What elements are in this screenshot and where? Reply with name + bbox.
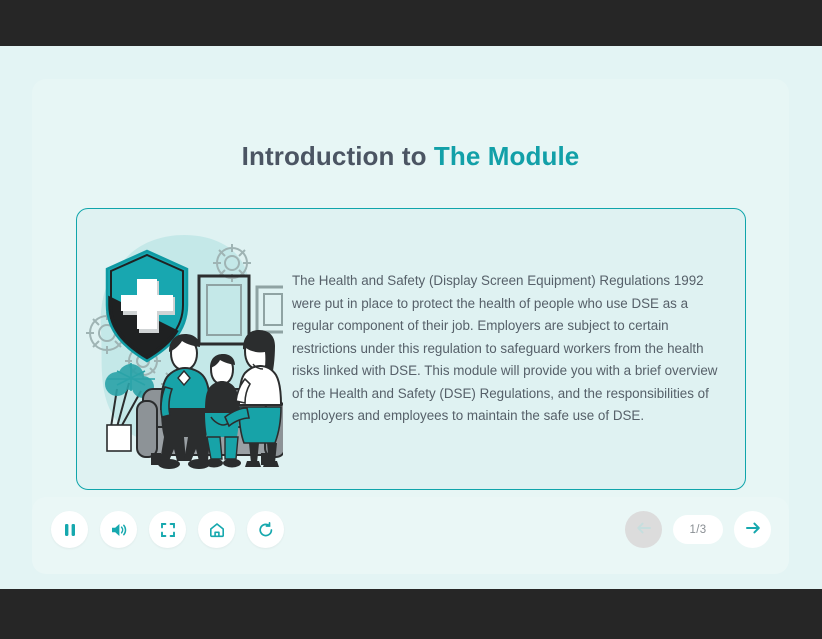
fullscreen-icon bbox=[159, 521, 177, 539]
page-title: Introduction to The Module bbox=[32, 141, 789, 172]
bottom-chrome-bar bbox=[0, 589, 822, 639]
lesson-card: Introduction to The Module bbox=[32, 79, 789, 519]
top-chrome-bar bbox=[0, 0, 822, 46]
previous-page-button[interactable] bbox=[625, 511, 662, 548]
page-title-plain: Introduction to bbox=[242, 141, 434, 171]
page-title-accent: The Module bbox=[434, 141, 579, 171]
family-on-couch-with-safety-shield-illustration bbox=[77, 209, 292, 489]
screen: Introduction to The Module bbox=[0, 0, 822, 639]
arrow-left-icon bbox=[635, 520, 653, 539]
lesson-page: Introduction to The Module bbox=[0, 46, 822, 589]
pause-button[interactable] bbox=[51, 511, 88, 548]
arrow-right-icon bbox=[744, 520, 762, 539]
player-toolbar: 1/3 bbox=[32, 497, 789, 574]
lesson-body-text: The Health and Safety (Display Screen Eq… bbox=[292, 270, 745, 428]
fullscreen-button[interactable] bbox=[149, 511, 186, 548]
restart-icon bbox=[257, 521, 275, 539]
content-panel: The Health and Safety (Display Screen Eq… bbox=[76, 208, 746, 490]
page-navigation: 1/3 bbox=[625, 511, 771, 548]
volume-button[interactable] bbox=[100, 511, 137, 548]
playback-controls bbox=[51, 511, 284, 548]
home-icon bbox=[208, 521, 226, 539]
restart-button[interactable] bbox=[247, 511, 284, 548]
volume-icon bbox=[109, 521, 129, 539]
page-indicator: 1/3 bbox=[673, 515, 723, 544]
next-page-button[interactable] bbox=[734, 511, 771, 548]
home-button[interactable] bbox=[198, 511, 235, 548]
pause-icon bbox=[61, 521, 79, 539]
